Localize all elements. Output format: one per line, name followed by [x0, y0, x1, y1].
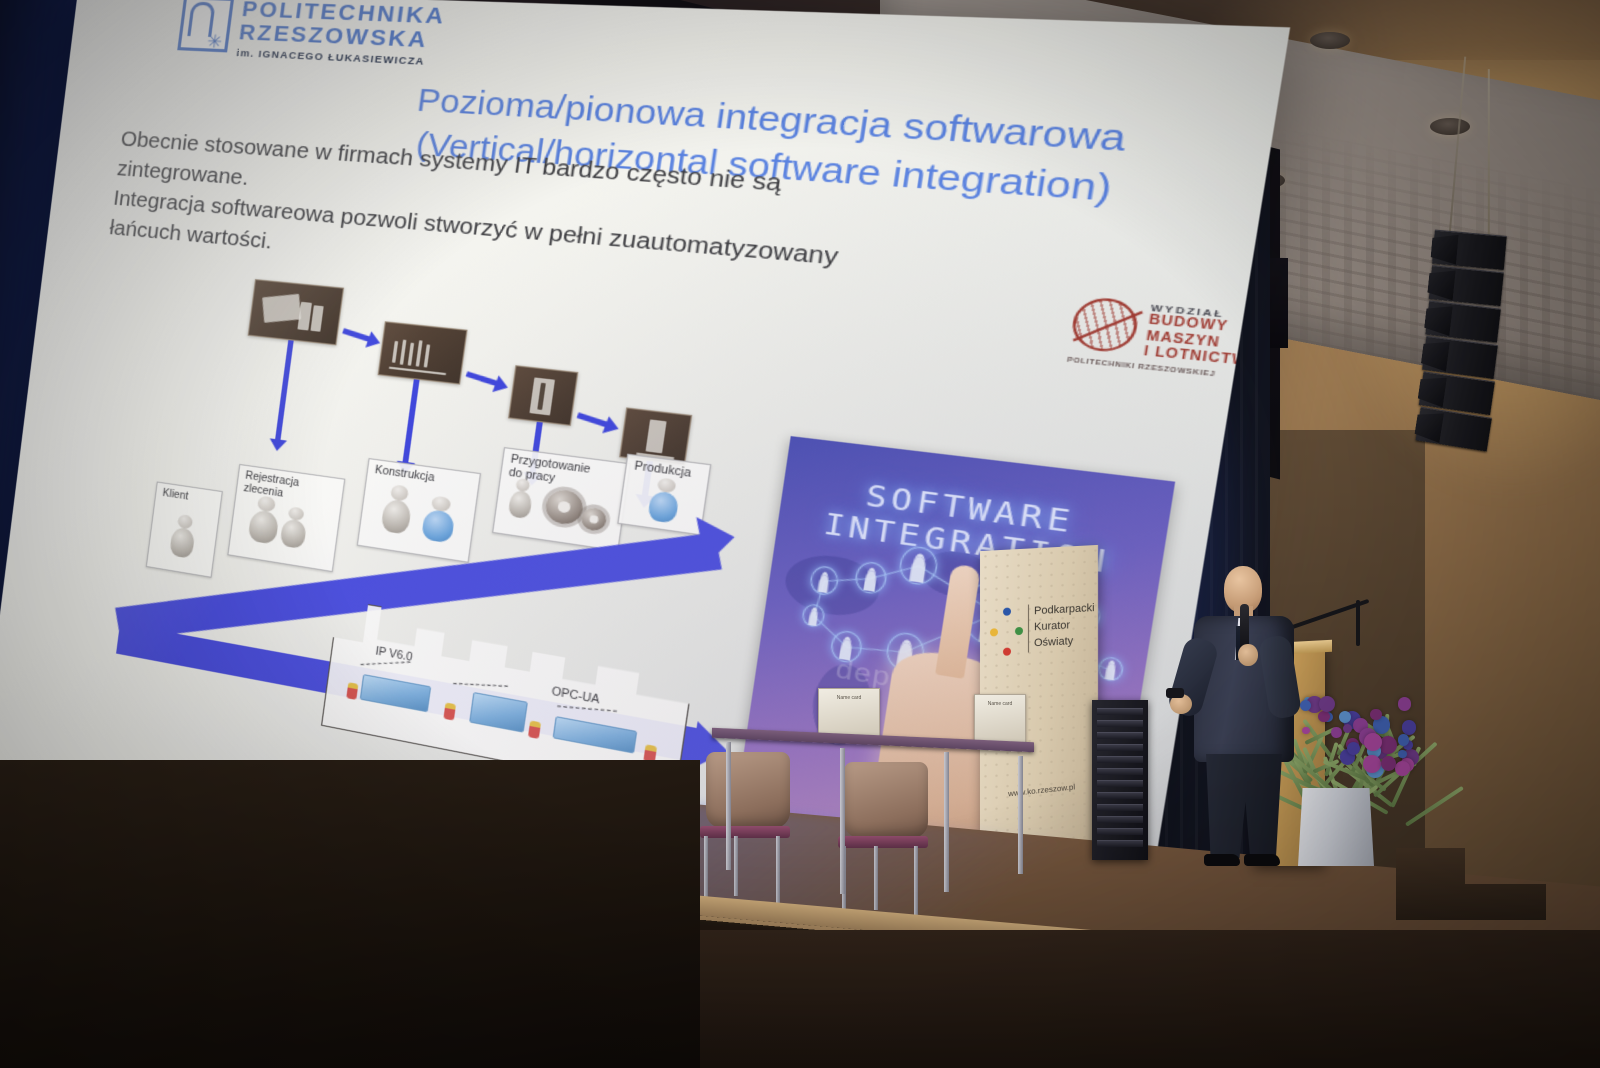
figure-icon	[248, 509, 280, 545]
gear-icon	[580, 506, 608, 532]
process-stage-przygotowanie: Przygotowanie do pracy	[492, 447, 631, 551]
presenter-right-hand	[1238, 644, 1258, 666]
process-photo-thumb	[248, 279, 344, 345]
flower-bloom	[1339, 711, 1351, 723]
process-label: Klient	[162, 488, 189, 504]
machine-icon	[469, 692, 528, 733]
figure-icon	[280, 518, 307, 549]
ceiling-downlight	[1430, 118, 1470, 135]
rack-unit	[1097, 756, 1143, 763]
microphone-stand-post	[1356, 600, 1360, 646]
politechnika-rzeszowska-logo: POLITECHNIKA RZESZOWSKA im. IGNACEGO ŁUK…	[176, 0, 458, 69]
rack-unit	[1097, 708, 1143, 715]
process-stage-klient: Klient	[146, 481, 223, 577]
figure-icon	[380, 499, 412, 535]
line-array-speaker-box	[1429, 265, 1504, 306]
table-leg	[1018, 756, 1023, 874]
logo-dot-right	[1015, 627, 1023, 635]
presenter-shoe	[1244, 854, 1280, 866]
rack-unit	[1097, 828, 1143, 835]
speaker-horn	[1420, 339, 1450, 372]
logo-dot-bottom	[1003, 647, 1011, 655]
flower-bloom	[1363, 755, 1381, 773]
table-name-card: Name card	[974, 694, 1026, 744]
process-photo-thumb	[508, 365, 578, 426]
chair-back	[844, 762, 928, 838]
table-leg	[840, 748, 845, 894]
flower-bloom	[1331, 727, 1341, 737]
rack-unit	[1097, 732, 1143, 739]
process-label: Konstrukcja	[374, 464, 435, 485]
banner-line1: Podkarpacki	[1034, 601, 1095, 620]
rack-unit	[1097, 804, 1143, 811]
speaker-horn	[1430, 233, 1459, 265]
speaker-horn	[1427, 268, 1456, 300]
chair-leg	[914, 846, 918, 922]
process-photo-thumb	[378, 321, 468, 384]
factory-tag: OPC-UA	[551, 686, 600, 707]
rack-unit	[1097, 720, 1143, 727]
flower-bloom	[1318, 711, 1330, 723]
table-leg	[726, 742, 731, 870]
chair-leg	[704, 836, 708, 902]
flower-bloom	[1343, 724, 1352, 733]
dashed-connector	[557, 706, 617, 712]
kurator-oswiaty-logo-icon	[990, 607, 1024, 659]
speaker-horn	[1414, 409, 1444, 443]
logo-dot-left	[990, 628, 998, 636]
process-arrow-icon	[402, 379, 419, 464]
flower-bloom	[1319, 696, 1335, 712]
figure-icon	[169, 527, 195, 559]
chair-leg	[874, 846, 878, 910]
rack-unit	[1097, 780, 1143, 787]
worker-icon	[528, 720, 541, 739]
ceiling-downlight	[1310, 32, 1350, 49]
table-leg	[944, 752, 949, 892]
rack-unit	[1097, 744, 1143, 751]
process-arrow-icon	[275, 340, 294, 442]
foreground-shadow	[0, 760, 700, 1068]
dashed-connector	[453, 683, 508, 687]
figure-icon	[421, 509, 455, 544]
process-arrow-icon	[577, 412, 610, 427]
rack-unit	[1097, 792, 1143, 799]
speaker-rigging-cable	[1488, 69, 1490, 239]
rack-unit	[1097, 816, 1143, 823]
chair-leg	[776, 836, 780, 908]
figure-icon	[508, 490, 533, 520]
line-array-speaker-box	[1432, 230, 1507, 270]
worker-icon	[346, 682, 358, 700]
flower-bloom	[1398, 734, 1409, 745]
machine-icon	[360, 674, 432, 712]
presentation-clicker	[1166, 688, 1184, 698]
presenter-trousers	[1206, 754, 1282, 858]
banner-text: Podkarpacki Kurator Oświaty	[1028, 601, 1095, 652]
flower-bloom	[1381, 756, 1396, 771]
presenter-shoe	[1204, 854, 1240, 866]
process-arrow-icon	[466, 371, 499, 386]
conference-photo-scene: POLITECHNIKA RZESZOWSKA im. IGNACEGO ŁUK…	[0, 0, 1600, 1068]
presenter-person	[1178, 566, 1308, 866]
worker-icon	[443, 702, 456, 720]
politechnika-logo-mark	[177, 0, 234, 52]
logo-dot-top	[1003, 607, 1011, 615]
speaker-horn	[1417, 374, 1447, 407]
flower-bloom	[1370, 709, 1382, 721]
chair-back	[706, 752, 790, 828]
process-stage-konstrukcja: Konstrukcja	[357, 458, 481, 563]
banner-line3: Oświaty	[1034, 633, 1095, 652]
process-stage-rejestracja: Rejestracja zlecenia	[227, 464, 345, 572]
process-arrow-icon	[342, 328, 371, 342]
flower-bloom	[1402, 720, 1417, 735]
flower-planter-box	[1298, 788, 1374, 866]
machine-icon	[553, 716, 638, 754]
gear-icon	[544, 488, 585, 527]
chair-leg	[734, 836, 738, 896]
process-label: Rejestracja zlecenia	[243, 470, 326, 506]
speaker-horn	[1424, 303, 1453, 336]
equipment-rack	[1092, 700, 1148, 860]
rack-unit	[1097, 840, 1143, 847]
rack-unit	[1097, 768, 1143, 775]
flower-bloom	[1398, 697, 1411, 710]
figure-icon	[647, 490, 679, 523]
